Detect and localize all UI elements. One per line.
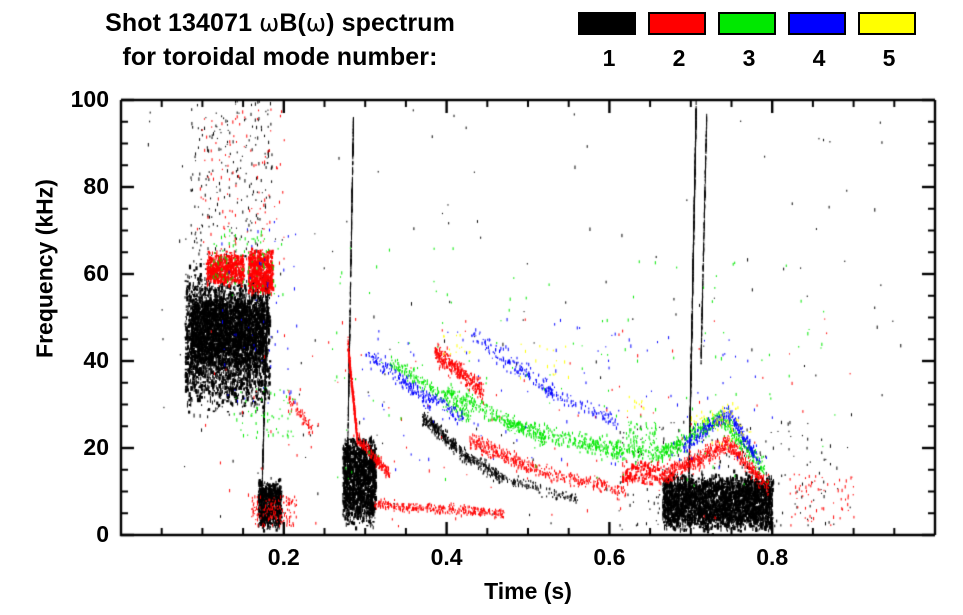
y-tick-label-20: 20	[49, 434, 109, 461]
y-tick-label-60: 60	[49, 260, 109, 287]
x-tick-label-0.6: 0.6	[574, 544, 644, 571]
y-tick-label-40: 40	[49, 347, 109, 374]
x-tick-label-0.4: 0.4	[412, 544, 482, 571]
x-tick-label-0.8: 0.8	[737, 544, 807, 571]
y-tick-label-100: 100	[49, 86, 109, 113]
y-tick-label-80: 80	[49, 173, 109, 200]
plot-area: Frequency (kHz) Time (s) 0204060801000.2…	[0, 0, 963, 615]
x-tick-label-0.2: 0.2	[249, 544, 319, 571]
y-tick-label-0: 0	[49, 521, 109, 548]
spectrogram-canvas	[0, 0, 963, 615]
figure-root: Shot 134071 ωB(ω) spectrum for toroidal …	[0, 0, 963, 615]
x-axis-title: Time (s)	[121, 578, 935, 605]
